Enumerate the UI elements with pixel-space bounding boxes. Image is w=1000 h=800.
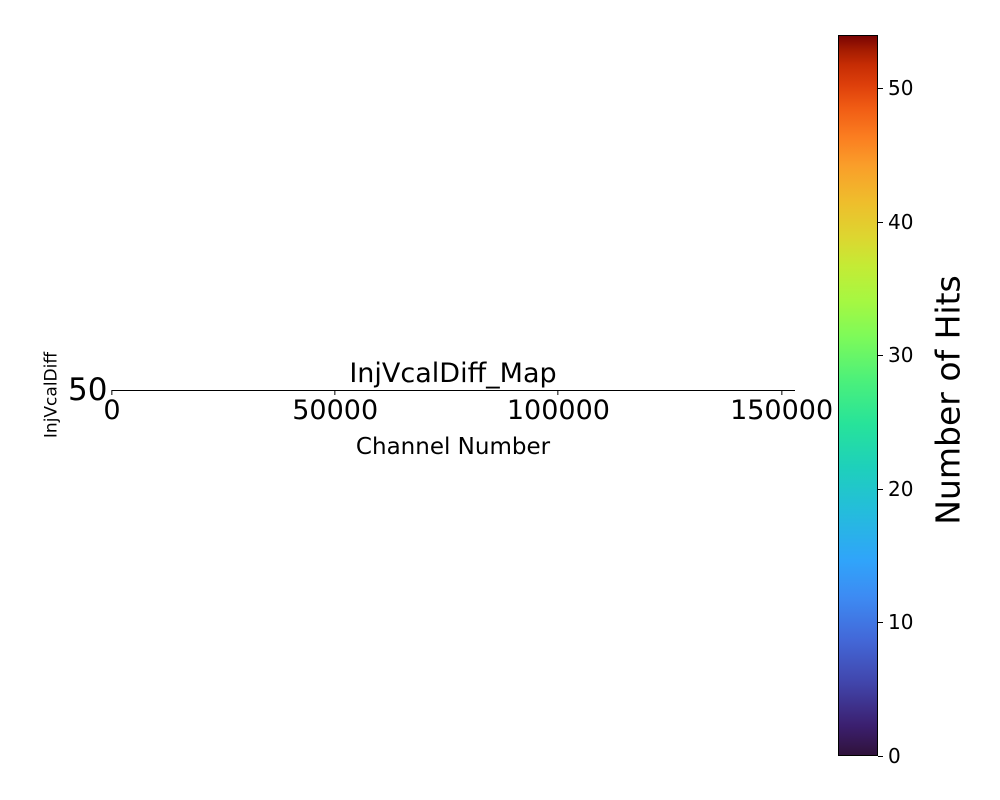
x-axis-label: Channel Number: [356, 436, 550, 459]
colorbar-tick: [878, 756, 883, 757]
colorbar-tick: [878, 622, 883, 623]
colorbar: 0 10 20 30 40 50: [838, 35, 878, 756]
y-axis-label: InjVcalDiff: [44, 352, 61, 438]
plot-area: 0 50000 100000 150000: [112, 390, 795, 391]
y-axis-tick-label: 50: [68, 375, 107, 406]
x-axis-tick-label: 100000: [507, 397, 610, 424]
colorbar-tick: [878, 355, 883, 356]
colorbar-tick: [878, 222, 883, 223]
x-axis-tick-label: 0: [103, 397, 120, 424]
colorbar-tick-label: 20: [888, 479, 913, 499]
colorbar-label: Number of Hits: [932, 275, 965, 524]
colorbar-tick-label: 50: [888, 78, 913, 98]
colorbar-tick: [878, 88, 883, 89]
colorbar-tick-label: 30: [888, 345, 913, 365]
x-axis-tick-label: 150000: [730, 397, 833, 424]
colorbar-tick-label: 0: [888, 746, 901, 766]
chart-figure: InjVcalDiff_Map InjVcalDiff 50 0 50000 1…: [0, 0, 1000, 800]
x-axis-tick-label: 50000: [292, 397, 378, 424]
x-axis-spine: [112, 390, 795, 391]
colorbar-tick-label: 40: [888, 212, 913, 232]
chart-title: InjVcalDiff_Map: [349, 360, 556, 387]
colorbar-tick-label: 10: [888, 612, 913, 632]
colorbar-tick: [878, 489, 883, 490]
colorbar-gradient: [838, 35, 878, 756]
